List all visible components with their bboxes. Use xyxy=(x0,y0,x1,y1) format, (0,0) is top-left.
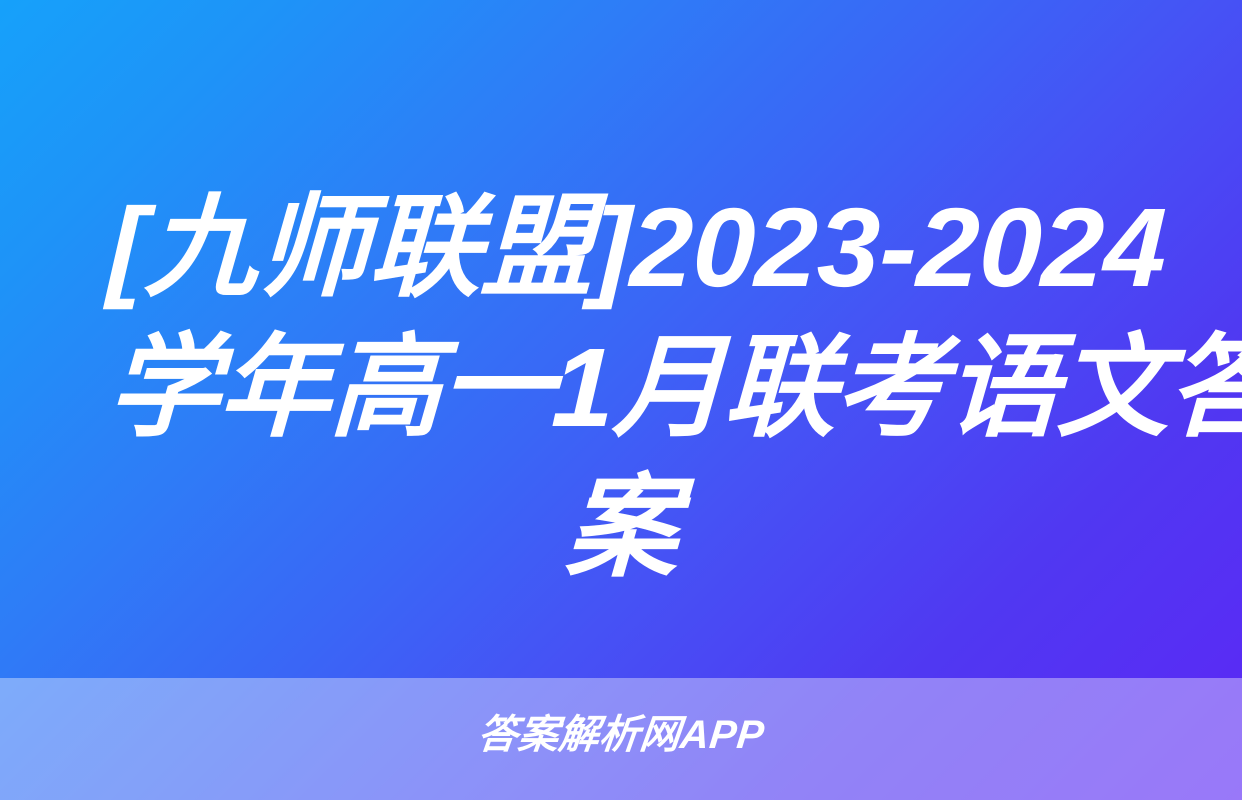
page-title-line-2: 学年高一1月联考语文答 xyxy=(106,318,1139,458)
page-title: [九师联盟]2023-2024 学年高一1月联考语文答 案 xyxy=(108,178,1136,598)
poster-canvas: [九师联盟]2023-2024 学年高一1月联考语文答 案 答案解析网APP xyxy=(0,0,1242,800)
page-title-line-1: [九师联盟]2023-2024 xyxy=(106,178,1139,318)
page-title-line-3: 案 xyxy=(106,458,1139,598)
brand-watermark: 答案解析网APP xyxy=(0,712,1242,758)
